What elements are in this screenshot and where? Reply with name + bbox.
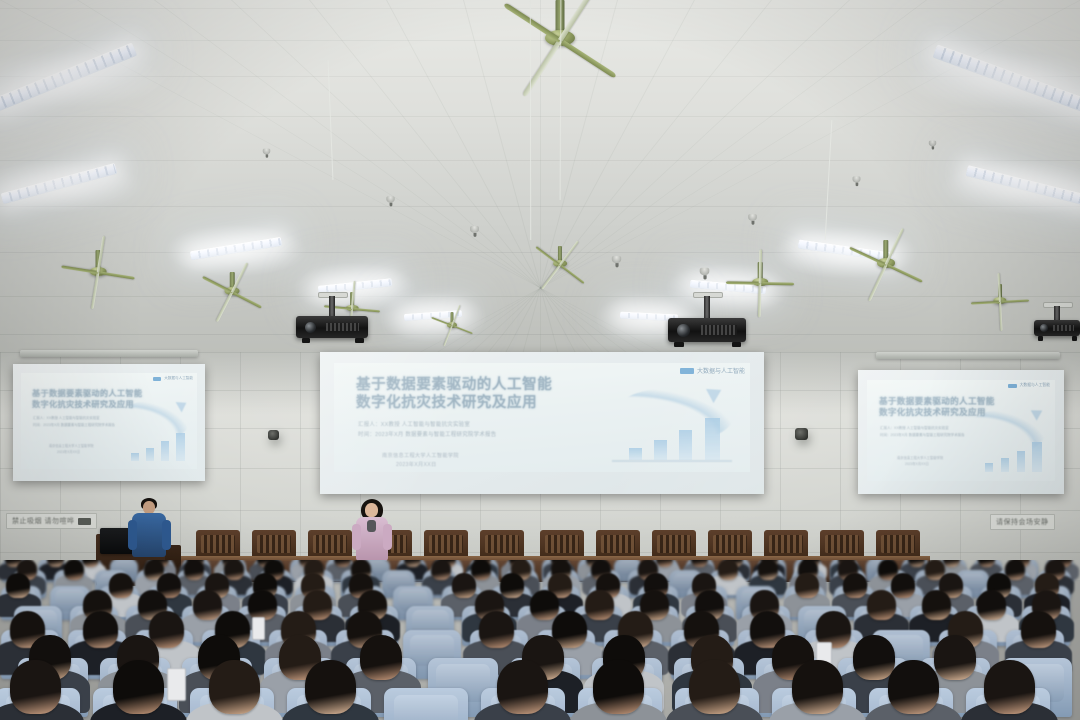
slide-bar-3 xyxy=(1017,451,1025,472)
projector-foot xyxy=(1038,336,1044,341)
slide-footer-line-2: 2023年X月XX日 xyxy=(396,462,436,470)
slide-bar-4 xyxy=(705,418,720,460)
audience-member-head xyxy=(888,660,939,714)
fan-blade xyxy=(535,245,561,265)
presenter-with-microphone xyxy=(350,500,394,562)
slide-footer-line-2: 2023年X月XX日 xyxy=(57,450,80,455)
phone-icon xyxy=(167,668,186,701)
audience-seat xyxy=(384,688,468,720)
slide-title-line-2: 数字化抗灾技术研究及应用 xyxy=(32,400,134,409)
phone-icon xyxy=(252,617,265,640)
projector-lens-icon xyxy=(677,324,689,336)
projector-foot xyxy=(1072,336,1078,341)
wall-speaker-icon xyxy=(268,430,279,440)
lecture-hall-photo: 禁止吸烟 请勿喧哗 请保持会场安静 大数据与人工智能 基于数据 xyxy=(0,0,1080,720)
fan-blade xyxy=(503,2,561,42)
projector-foot xyxy=(355,338,364,343)
projector-vent xyxy=(701,325,737,335)
presenter-head xyxy=(365,503,378,517)
projector-mount-rod xyxy=(704,296,710,318)
fan-blade xyxy=(202,276,233,293)
slide-bar-1 xyxy=(985,463,993,472)
slide-bar-1 xyxy=(629,448,642,460)
fan-blade xyxy=(541,264,561,290)
sprinkler-head-icon xyxy=(748,214,757,221)
ceiling-projector xyxy=(1034,320,1080,336)
audience-member-head xyxy=(184,560,204,580)
fan-blade xyxy=(1000,299,1029,303)
slide-footer-line-1: 南京信息工程大学人工智能学院 xyxy=(49,444,94,449)
slide-bar-3 xyxy=(161,441,169,461)
slide-chart-baseline xyxy=(612,460,732,462)
projector-foot xyxy=(302,338,311,343)
slide-logo: 大数据与人工智能 xyxy=(680,366,745,375)
projector-vent xyxy=(326,323,359,332)
seated-audience xyxy=(0,560,1080,720)
audience-member-head xyxy=(83,611,118,648)
slide-title-line-1: 基于数据要素驱动的人工智能 xyxy=(356,377,552,393)
microphone-icon xyxy=(367,520,376,532)
projector-vent xyxy=(1053,325,1074,331)
slide-subtitle-line-1: 汇报人：XX教授 人工智能与智能抗灾实验室 xyxy=(358,421,470,429)
wall-sign-right-text: 请保持会场安静 xyxy=(996,517,1049,527)
slide-logo-text: 大数据与人工智能 xyxy=(1020,383,1050,388)
right-projection-screen: 大数据与人工智能 基于数据要素驱动的人工智能 数字化抗灾技术研究及应用 汇报人：… xyxy=(858,370,1064,494)
projector-mount-rod xyxy=(329,296,335,316)
right-screen-roller-case xyxy=(876,352,1060,359)
ceiling-fan xyxy=(195,272,270,319)
audience-member-head xyxy=(500,573,524,598)
ceiling-projector xyxy=(296,316,368,338)
audience-member-head xyxy=(934,635,976,680)
ceiling-fan xyxy=(526,246,595,289)
fan-blade xyxy=(971,301,1000,305)
audience-member-head xyxy=(113,660,164,714)
audience-member-head xyxy=(977,590,1006,620)
left-projection-screen: 大数据与人工智能 基于数据要素驱动的人工智能 数字化抗灾技术研究及应用 汇报人：… xyxy=(13,364,205,481)
fan-blade xyxy=(352,308,380,312)
main-projection-screen: 大数据与人工智能 基于数据要素驱动的人工智能 数字化抗灾技术研究及应用 汇报人：… xyxy=(320,352,764,494)
sprinkler-head-icon xyxy=(700,268,710,275)
slide-bar-2 xyxy=(146,448,154,461)
sprinkler-head-icon xyxy=(386,196,394,202)
audience-member-head xyxy=(431,560,451,580)
audience-member-head xyxy=(64,560,84,580)
audience-member-head xyxy=(1021,611,1056,648)
ceiling-projector xyxy=(668,318,746,342)
left-slide: 大数据与人工智能 基于数据要素驱动的人工智能 数字化抗灾技术研究及应用 汇报人：… xyxy=(21,373,197,469)
slide-title-line-1: 基于数据要素驱动的人工智能 xyxy=(32,389,142,398)
slide-subtitle-line-1: 汇报人：XX教授 人工智能与智能抗灾实验室 xyxy=(880,426,949,431)
audience-member-head xyxy=(891,573,915,598)
audience-member-head xyxy=(452,573,476,598)
left-screen-roller-case xyxy=(20,350,198,357)
logo-mark-icon xyxy=(1008,384,1017,388)
fan-blade xyxy=(216,292,233,323)
audience-member-head xyxy=(792,660,843,714)
fan-blade xyxy=(559,38,617,78)
audience-member-head xyxy=(360,635,402,680)
fan-blade xyxy=(231,291,262,308)
logo-mark-icon xyxy=(153,377,161,381)
sprinkler-head-icon xyxy=(470,226,479,233)
slide-logo-text: 大数据与人工智能 xyxy=(164,376,193,381)
fan-blade xyxy=(760,282,794,285)
wall-sign-right: 请保持会场安静 xyxy=(990,514,1055,530)
audience-member-head xyxy=(193,590,222,620)
sprinkler-head-icon xyxy=(853,176,861,182)
fan-blade xyxy=(868,264,887,301)
left-screen-surface: 大数据与人工智能 基于数据要素驱动的人工智能 数字化抗灾技术研究及应用 汇报人：… xyxy=(13,364,205,481)
host-arm-left xyxy=(128,520,137,550)
slide-subtitle-line-2: 时间：2023年X月 数据要素与智能工程研究院学术报告 xyxy=(358,431,496,439)
projector-foot xyxy=(732,342,741,347)
ceiling-fan xyxy=(841,240,931,296)
sign-chip-icon xyxy=(78,518,91,525)
logo-mark-icon xyxy=(680,368,694,374)
audience-member-head xyxy=(867,590,896,620)
fan-blade xyxy=(98,271,135,280)
presenter-arm-left xyxy=(352,524,361,550)
slide-bar-4 xyxy=(176,433,185,461)
slide-bar-2 xyxy=(654,440,667,460)
audience-member-head xyxy=(843,573,867,598)
projector-lens-icon xyxy=(305,322,316,333)
projector-lens-icon xyxy=(1040,324,1048,332)
slide-title-line-1: 基于数据要素驱动的人工智能 xyxy=(879,397,995,407)
ceiling-fan xyxy=(56,250,140,302)
main-slide: 大数据与人工智能 基于数据要素驱动的人工智能 数字化抗灾技术研究及应用 汇报人：… xyxy=(334,363,750,472)
audience-member-head xyxy=(853,635,895,680)
slide-title-line-2: 数字化抗灾技术研究及应用 xyxy=(879,408,986,418)
fan-blade xyxy=(559,264,585,284)
audience-member-head xyxy=(585,590,614,620)
slide-logo: 大数据与人工智能 xyxy=(1008,383,1050,388)
slide-footer-line-2: 2023年X月XX日 xyxy=(905,462,929,467)
audience-member-head xyxy=(6,573,30,598)
audience-member-head xyxy=(922,590,951,620)
fan-blade xyxy=(849,246,886,265)
slide-logo-text: 大数据与人工智能 xyxy=(697,366,745,375)
fan-blade xyxy=(522,39,562,97)
audience-member-head xyxy=(530,590,559,620)
projector-foot xyxy=(674,342,683,347)
audience-member-head xyxy=(479,611,514,648)
fan-blade xyxy=(726,281,760,284)
sprinkler-head-icon xyxy=(612,256,621,263)
audience-member-head xyxy=(224,560,244,580)
slide-bar-4 xyxy=(1032,442,1042,472)
slide-footer-line-1: 南京信息工程大学人工智能学院 xyxy=(897,456,943,461)
slide-bar-3 xyxy=(679,430,692,460)
wall-sign-left-text: 禁止吸烟 请勿喧哗 xyxy=(12,516,74,526)
audience-member-head xyxy=(248,590,277,620)
wall-speaker-icon xyxy=(795,428,808,440)
slide-bar-2 xyxy=(1001,458,1009,472)
sprinkler-head-icon xyxy=(929,141,936,147)
host-arm-right xyxy=(162,520,171,550)
ceiling-fan xyxy=(721,262,799,310)
slide-logo: 大数据与人工智能 xyxy=(153,376,193,381)
audience-member-head xyxy=(209,660,260,714)
slide-title-line-2: 数字化抗灾技术研究及应用 xyxy=(356,395,537,411)
projector-mount-rod xyxy=(1054,306,1060,320)
fan-blade xyxy=(885,263,922,282)
wall-sign-left: 禁止吸烟 请勿喧哗 xyxy=(6,513,97,529)
right-slide: 大数据与人工智能 基于数据要素驱动的人工智能 数字化抗灾技术研究及应用 汇报人：… xyxy=(867,380,1055,481)
audience-member-head xyxy=(305,660,356,714)
audience-member-head xyxy=(758,560,778,580)
audience-member-head xyxy=(471,560,491,580)
sprinkler-head-icon xyxy=(263,149,271,155)
main-screen-surface: 大数据与人工智能 基于数据要素驱动的人工智能 数字化抗灾技术研究及应用 汇报人：… xyxy=(320,352,764,494)
ceiling-fan xyxy=(967,284,1033,325)
audience-member-head xyxy=(10,660,61,714)
fan-blade xyxy=(999,302,1003,331)
host-at-podium xyxy=(126,498,172,560)
presenter-arm-right xyxy=(383,524,392,550)
slide-subtitle-line-1: 汇报人：XX教授 人工智能与智能抗灾实验室 xyxy=(33,416,100,421)
slide-subtitle-line-2: 时间：2023年X月 数据要素与智能工程研究院学术报告 xyxy=(33,423,115,428)
slide-subtitle-line-2: 时间：2023年X月 数据要素与智能工程研究院学术报告 xyxy=(880,433,965,438)
audience-member-head xyxy=(718,560,738,580)
slide-footer-line-1: 南京信息工程大学人工智能学院 xyxy=(382,453,459,461)
audience-member-head xyxy=(795,573,819,598)
audience-member-head xyxy=(593,660,644,714)
audience-member-head xyxy=(497,660,548,714)
fan-blade xyxy=(452,325,474,335)
ceiling-fan xyxy=(427,312,478,344)
slide-bar-1 xyxy=(131,453,139,461)
host-body xyxy=(132,513,166,557)
audience-member-head xyxy=(984,660,1035,714)
audience-member-head xyxy=(109,573,133,598)
right-screen-surface: 大数据与人工智能 基于数据要素驱动的人工智能 数字化抗灾技术研究及应用 汇报人：… xyxy=(858,370,1064,494)
audience-member-head xyxy=(689,660,740,714)
